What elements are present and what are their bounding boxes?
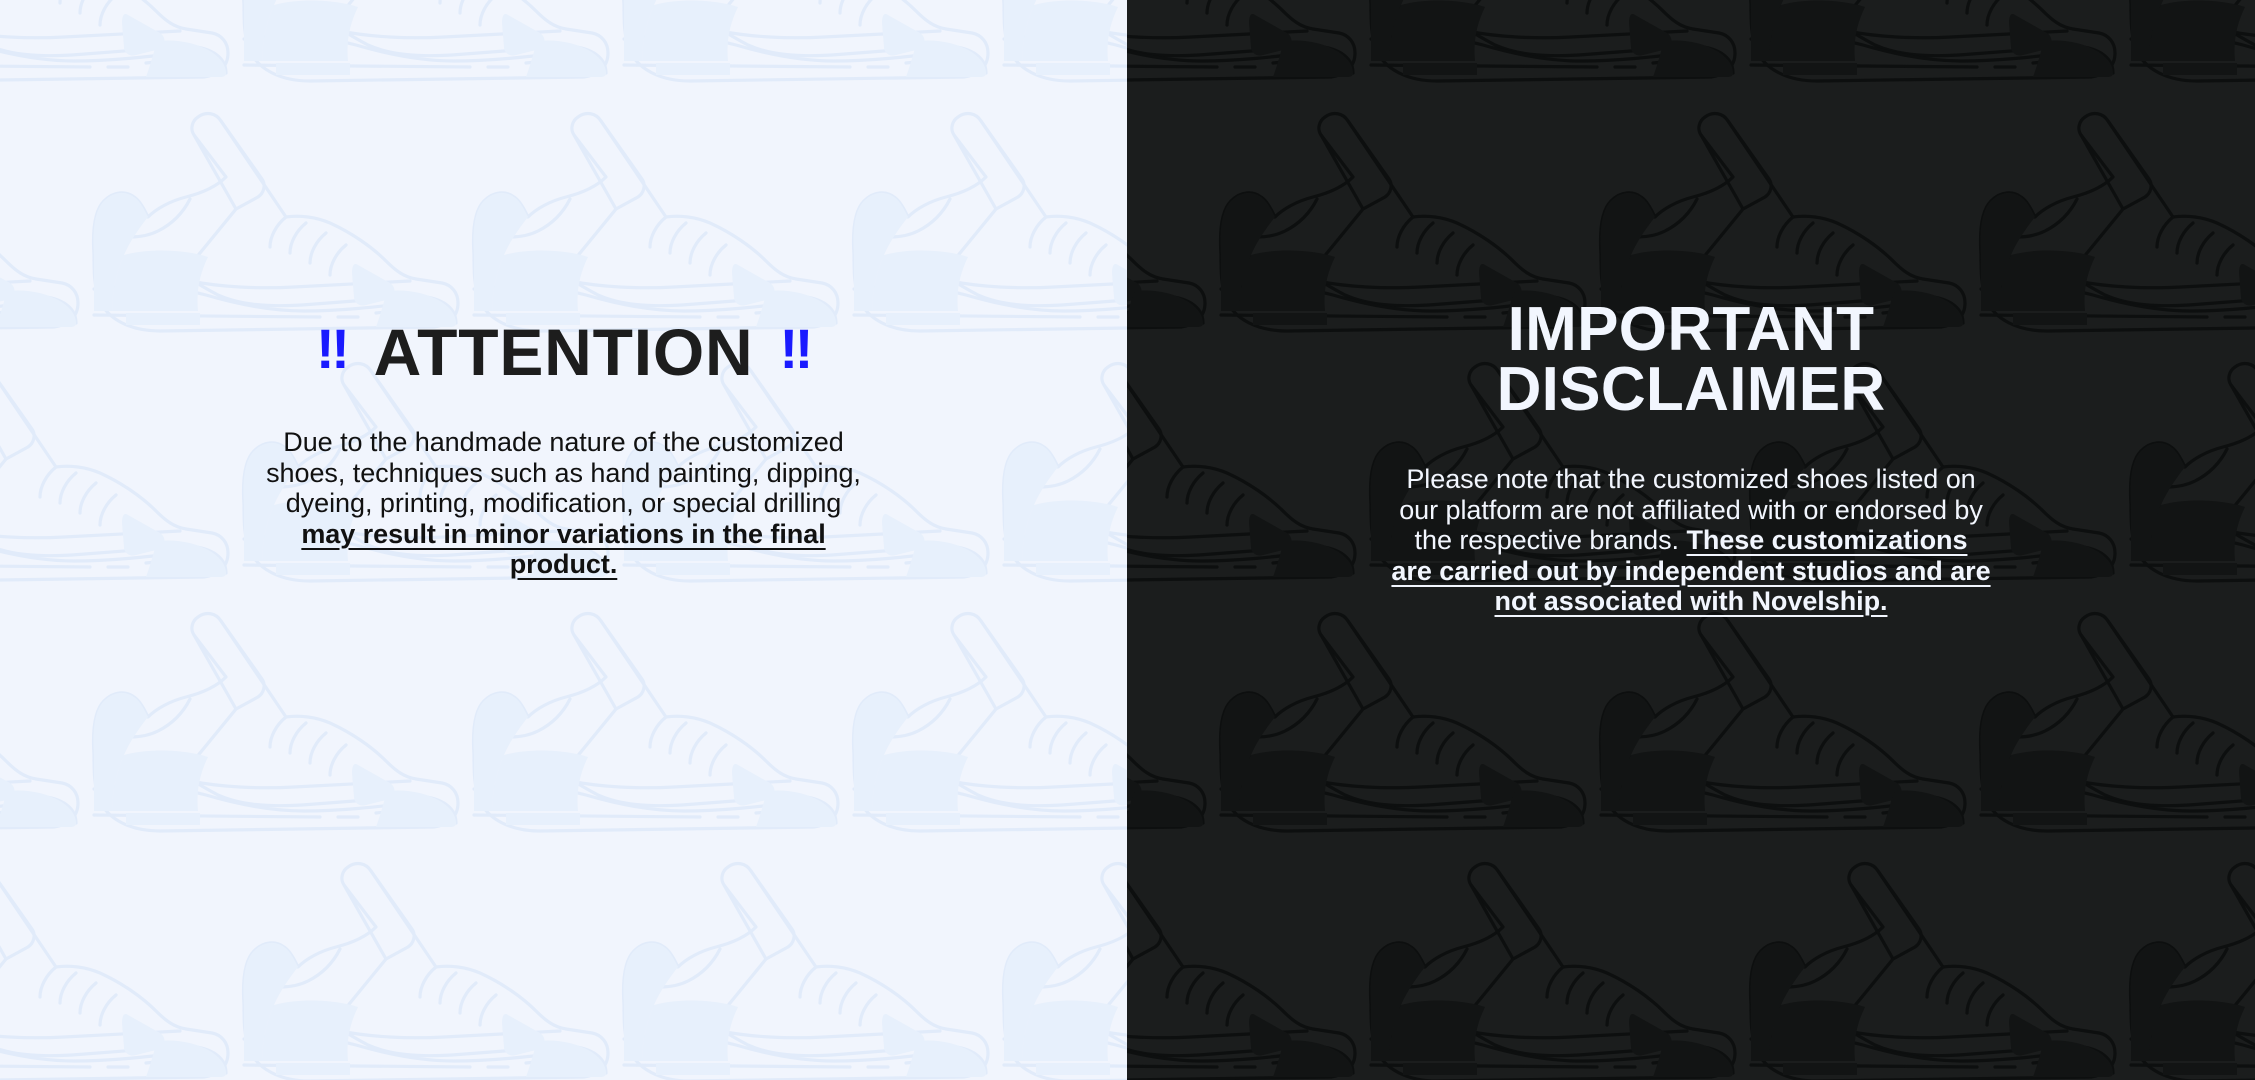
disclaimer-heading-line2: DISCLAIMER <box>1497 355 1886 424</box>
disclaimer-content: IMPORTANT DISCLAIMER Please note that th… <box>1127 300 2255 617</box>
disclaimer-panel: IMPORTANT DISCLAIMER Please note that th… <box>1127 0 2255 1080</box>
double-exclamation-left-icon: ‼ <box>316 321 348 377</box>
attention-panel: ‼ ATTENTION ‼ Due to the handmade nature… <box>0 0 1127 1080</box>
disclaimer-heading-line1: IMPORTANT <box>1508 295 1875 364</box>
attention-body-normal: Due to the handmade nature of the custom… <box>266 427 861 518</box>
attention-body-emphasis: may result in minor variations in the fi… <box>301 519 825 580</box>
disclaimer-body: Please note that the customized shoes li… <box>1391 464 1991 617</box>
disclaimer-heading: IMPORTANT DISCLAIMER <box>1127 300 2255 420</box>
attention-heading: ‼ ATTENTION ‼ <box>0 315 1127 389</box>
attention-content: ‼ ATTENTION ‼ Due to the handmade nature… <box>0 315 1127 580</box>
attention-heading-word: ATTENTION <box>374 315 754 389</box>
double-exclamation-right-icon: ‼ <box>779 321 811 377</box>
attention-body: Due to the handmade nature of the custom… <box>264 427 864 580</box>
promo-banner: ‼ ATTENTION ‼ Due to the handmade nature… <box>0 0 2255 1080</box>
